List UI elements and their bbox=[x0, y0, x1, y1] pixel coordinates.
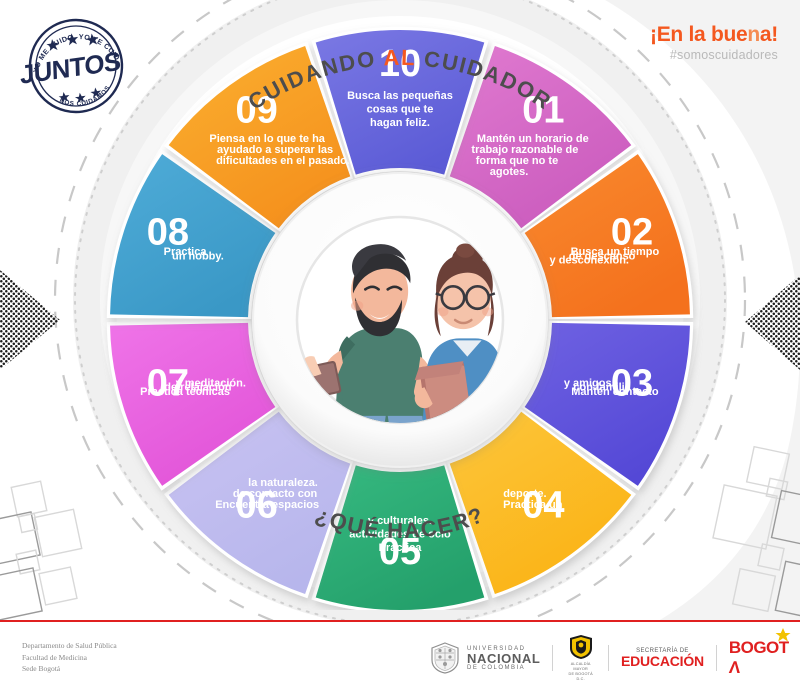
bogota-logo: BOGOTΛ bbox=[729, 638, 790, 678]
footer-divider bbox=[0, 620, 800, 622]
secretaria-line-2: EDUCACIÓN bbox=[621, 654, 704, 669]
tagline-part-b: n bbox=[747, 23, 760, 46]
logo-divider-1 bbox=[552, 645, 553, 671]
footer-credits: Departamento de Salud Pública Facultad d… bbox=[22, 640, 117, 675]
deco-squares-right bbox=[713, 447, 800, 620]
alcaldia-shield-icon bbox=[568, 634, 594, 660]
halftone-triangle-left bbox=[0, 270, 60, 370]
footer-line-2: Facultad de Medicina bbox=[22, 652, 117, 664]
tagline-part-c: a! bbox=[760, 23, 778, 46]
logo-divider-2 bbox=[608, 645, 609, 671]
un-crest-icon bbox=[430, 642, 460, 674]
infographic-canvas: YO ME CUIDO, YO TE CUIDO, JUNTOS NOS CUI… bbox=[0, 0, 800, 685]
footer-logo-row: UNIVERSIDAD NACIONAL DE COLOMBIA ALCALDÍ… bbox=[430, 636, 790, 680]
care-wheel: 01Mantén un horario detrabajo razonable … bbox=[90, 10, 710, 610]
deco-squares-left bbox=[0, 481, 82, 620]
universidad-nacional-logo: UNIVERSIDAD NACIONAL DE COLOMBIA bbox=[430, 642, 540, 674]
un-line-2: NACIONAL bbox=[467, 652, 540, 665]
footer-line-1: Departamento de Salud Pública bbox=[22, 640, 117, 652]
secretaria-educacion-logo: SECRETARÍA DE EDUCACIÓN bbox=[621, 648, 704, 669]
halftone-triangle-right bbox=[745, 275, 800, 370]
logo-divider-3 bbox=[716, 645, 717, 671]
alcaldia-caption: ALCALDÍA MAYORDE BOGOTÁ D.C. bbox=[565, 662, 596, 682]
bogota-a-glyph: Λ bbox=[728, 658, 740, 678]
alcaldia-bogota-logo: ALCALDÍA MAYORDE BOGOTÁ D.C. bbox=[565, 634, 596, 682]
bogota-star-icon bbox=[774, 628, 792, 642]
footer-line-3: Sede Bogotá bbox=[22, 663, 117, 675]
un-logo-text: UNIVERSIDAD NACIONAL DE COLOMBIA bbox=[467, 646, 540, 671]
